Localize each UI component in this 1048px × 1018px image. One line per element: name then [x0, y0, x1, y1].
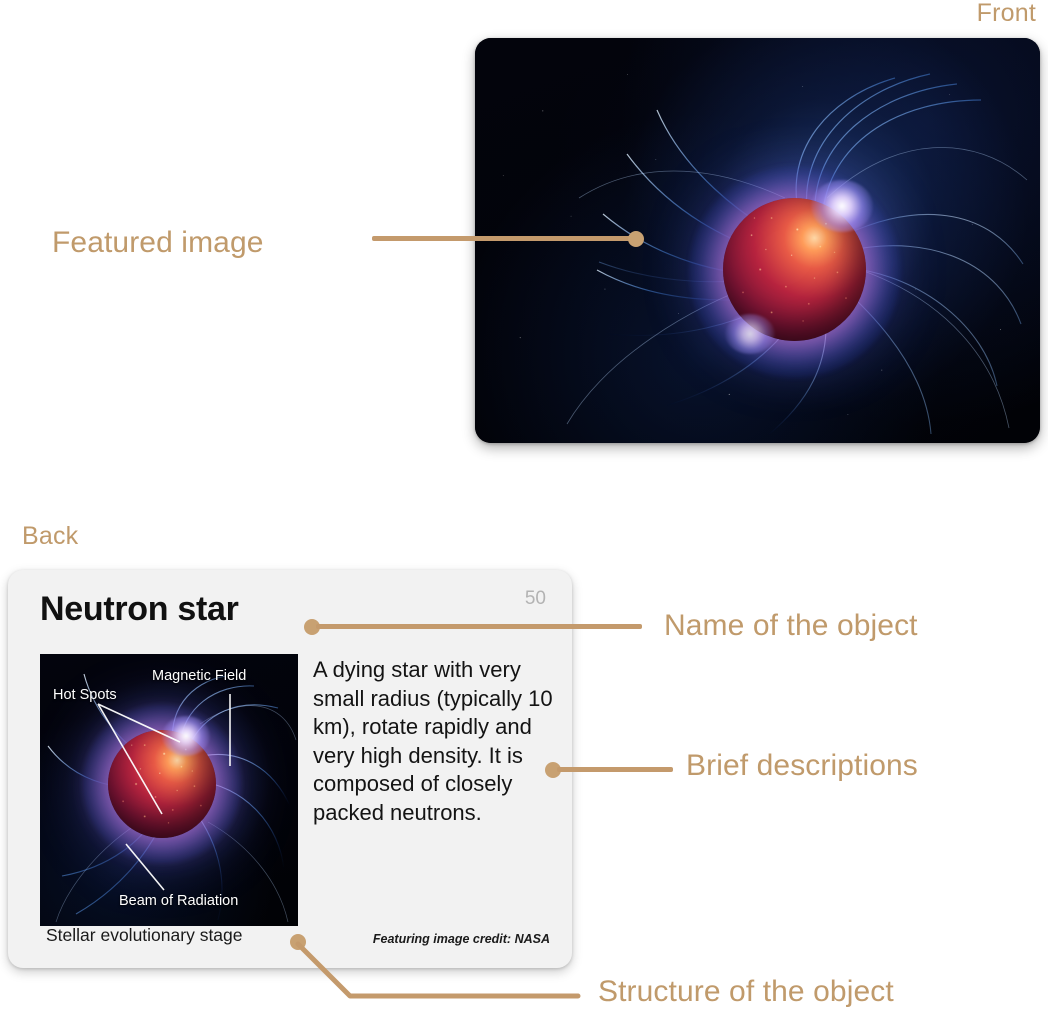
callout-structure-of-the-object: Structure of the object	[598, 975, 894, 1009]
diagram-canvas: Front	[0, 0, 1048, 1018]
leader-elbow-structure-of-object	[0, 0, 1048, 1018]
